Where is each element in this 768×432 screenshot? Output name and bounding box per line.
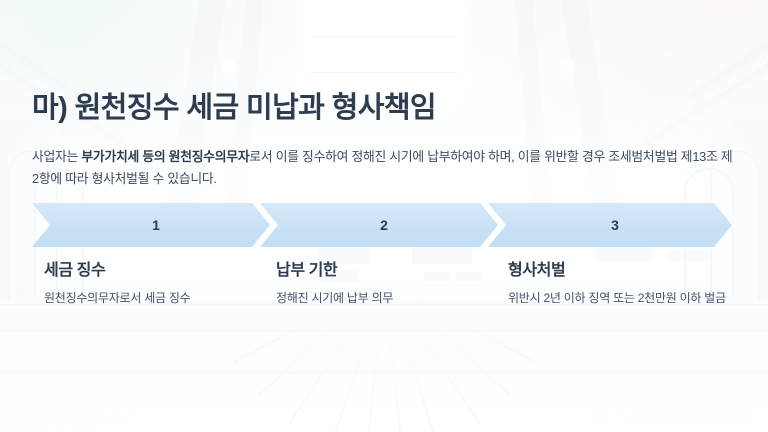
- chevron-step-3-number: 3: [601, 217, 619, 233]
- slide-body-paragraph: 사업자는 부가가치세 등의 원천징수의무자로서 이를 징수하여 정해진 시기에 …: [32, 146, 738, 190]
- step-2-description: 정해진 시기에 납부 의무: [276, 289, 496, 308]
- chevron-step-2[interactable]: 2: [260, 203, 498, 247]
- step-3-title: 형사처벌: [508, 256, 734, 280]
- step-1-description: 원천징수의무자로서 세금 징수: [44, 289, 264, 308]
- chevron-step-1-number: 1: [142, 217, 160, 233]
- presentation-slide: 마) 원천징수 세금 미납과 형사책임 사업자는 부가가치세 등의 원천징수의무…: [0, 0, 768, 432]
- slide-content: 마) 원천징수 세금 미납과 형사책임 사업자는 부가가치세 등의 원천징수의무…: [0, 0, 768, 432]
- step-block-1: 세금 징수 원천징수의무자로서 세금 징수: [44, 256, 264, 308]
- chevron-step-1[interactable]: 1: [32, 203, 270, 247]
- step-1-title: 세금 징수: [44, 256, 264, 280]
- slide-title: 마) 원천징수 세금 미납과 형사책임: [32, 84, 436, 126]
- body-text-part-1: 사업자는: [32, 149, 81, 164]
- chevron-step-3[interactable]: 3: [488, 203, 732, 247]
- step-2-title: 납부 기한: [276, 256, 496, 280]
- process-chevron-band: 1 2 3: [32, 203, 732, 247]
- step-block-3: 형사처벌 위반시 2년 이하 징역 또는 2천만원 이하 벌금: [508, 256, 734, 308]
- step-3-description: 위반시 2년 이하 징역 또는 2천만원 이하 벌금: [508, 289, 734, 308]
- body-text-emphasis: 부가가치세 등의 원천징수의무자: [81, 149, 249, 164]
- step-block-2: 납부 기한 정해진 시기에 납부 의무: [276, 256, 496, 308]
- chevron-step-2-number: 2: [370, 217, 388, 233]
